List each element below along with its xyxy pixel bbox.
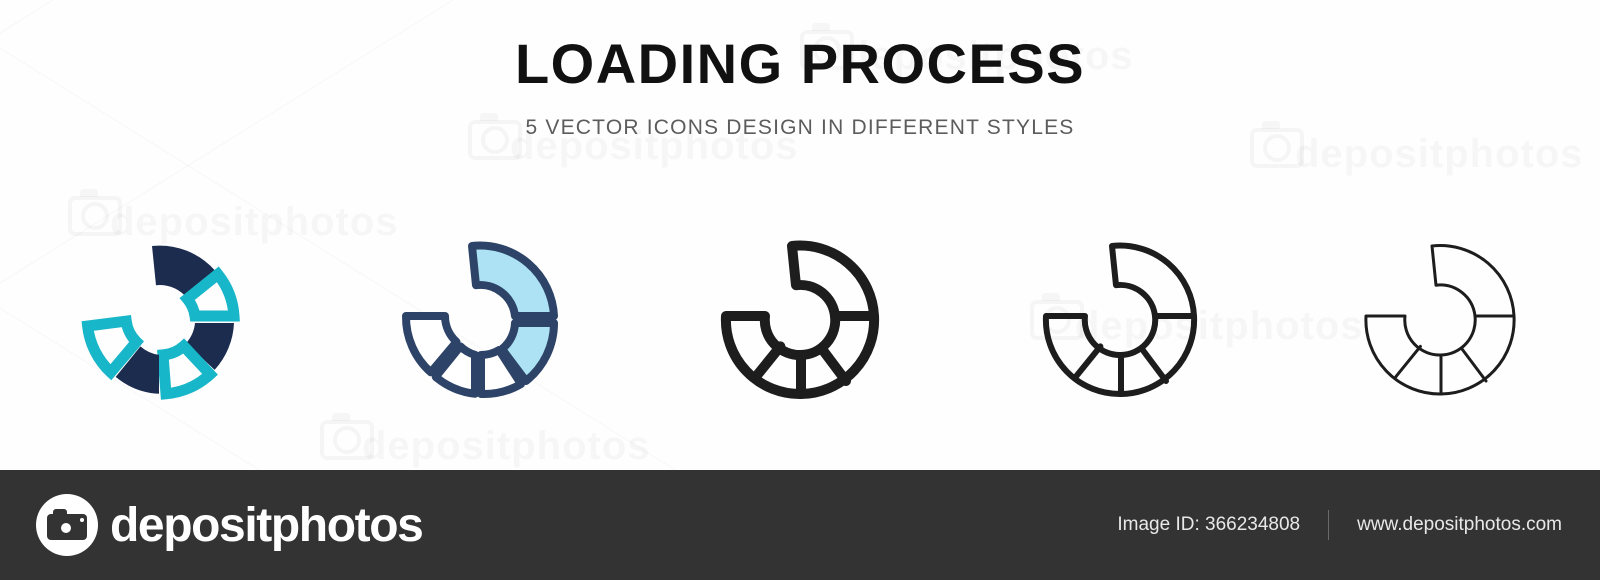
footer-divider [1328, 510, 1329, 540]
icon-variant-medium-line[interactable] [960, 200, 1280, 430]
page-title: LOADING PROCESS [0, 36, 1600, 92]
camera-icon [36, 494, 98, 556]
icon-variant-filled[interactable] [0, 200, 320, 430]
loading-process-icon-thick-line [700, 220, 900, 410]
icon-variant-thin-line[interactable] [1280, 200, 1600, 430]
depositphotos-logo[interactable]: depositphotos [36, 494, 422, 556]
loading-process-icon-lineal-color [380, 220, 580, 410]
loading-process-icon-thin-line [1340, 220, 1540, 410]
title-block: LOADING PROCESS 5 VECTOR ICONS DESIGN IN… [0, 0, 1600, 140]
loading-process-icon-medium-line [1020, 220, 1220, 410]
footer-bar: depositphotos Image ID: 366234808 www.de… [0, 470, 1600, 580]
icon-variant-thick-line[interactable] [640, 200, 960, 430]
icon-variant-lineal-color[interactable] [320, 200, 640, 430]
screenshot-root: depositphotos depositphotos depositphoto… [0, 0, 1600, 580]
footer-meta: Image ID: 366234808 www.depositphotos.co… [1117, 510, 1562, 540]
brand-name: depositphotos [110, 498, 422, 553]
image-id-label: Image ID: 366234808 [1117, 514, 1300, 536]
watermark-text: depositphotos [362, 424, 651, 469]
website-link[interactable]: www.depositphotos.com [1357, 514, 1562, 536]
icon-variants-row [0, 200, 1600, 430]
page-subtitle: 5 VECTOR ICONS DESIGN IN DIFFERENT STYLE… [0, 116, 1600, 140]
loading-process-icon-filled [60, 220, 260, 410]
